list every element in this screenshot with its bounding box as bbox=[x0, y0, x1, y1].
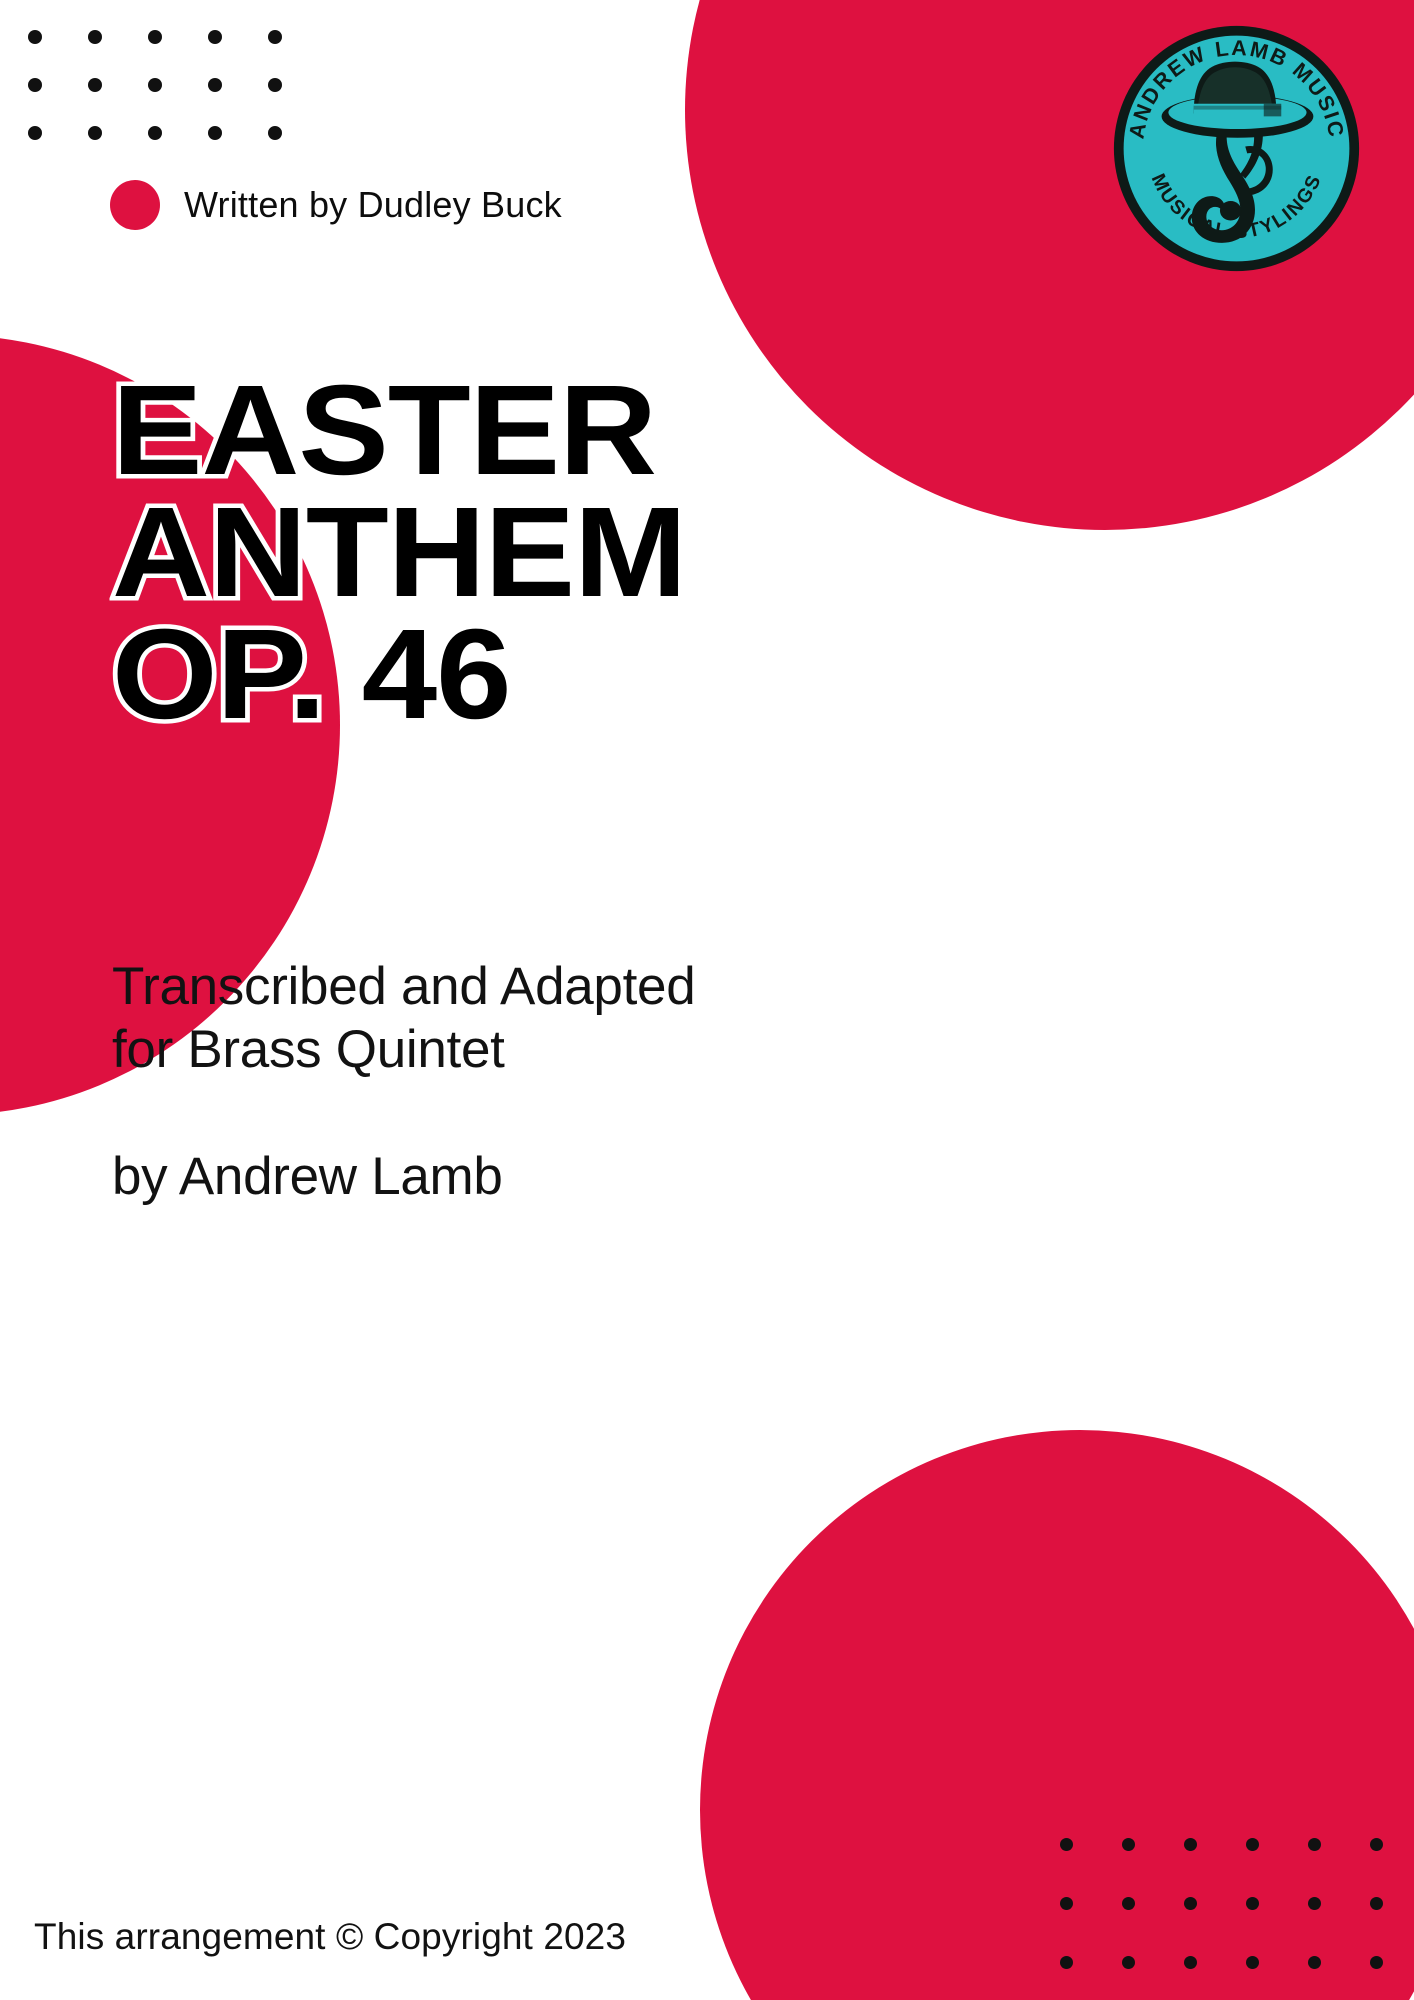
arranger-credit: by Andrew Lamb bbox=[112, 1145, 695, 1208]
decorative-dot bbox=[88, 78, 102, 92]
subtitle-block: Transcribed and Adapted for Brass Quinte… bbox=[112, 955, 695, 1208]
title-line-2: ANTHEM bbox=[112, 492, 686, 614]
page-title: EASTER ANTHEM OP. 46 bbox=[112, 370, 654, 736]
decorative-dot bbox=[1184, 1897, 1197, 1910]
decorative-dot bbox=[148, 78, 162, 92]
decorative-dot bbox=[1122, 1956, 1135, 1969]
decorative-dot bbox=[1246, 1897, 1259, 1910]
andrew-lamb-music-logo: ANDREW LAMB MUSIC MUSICAL STYLINGS bbox=[1110, 22, 1363, 275]
decorative-dot bbox=[208, 78, 222, 92]
decorative-dot bbox=[1308, 1838, 1321, 1851]
decorative-dot bbox=[28, 78, 42, 92]
decorative-dot bbox=[268, 78, 282, 92]
subtitle-line-2: for Brass Quintet bbox=[112, 1018, 695, 1081]
decorative-dot bbox=[88, 30, 102, 44]
decorative-dot bbox=[148, 30, 162, 44]
dot-grid-top-left bbox=[28, 30, 328, 174]
decorative-dot bbox=[268, 30, 282, 44]
decorative-dot bbox=[1184, 1956, 1197, 1969]
decorative-dot bbox=[1060, 1838, 1073, 1851]
decorative-dot bbox=[1060, 1956, 1073, 1969]
title-line-1: EASTER bbox=[112, 370, 686, 492]
decorative-dot bbox=[1246, 1956, 1259, 1969]
decorative-dot bbox=[1122, 1897, 1135, 1910]
decorative-dot bbox=[208, 126, 222, 140]
decorative-dot bbox=[1370, 1956, 1383, 1969]
decorative-dot bbox=[268, 126, 282, 140]
decorative-dot bbox=[1308, 1897, 1321, 1910]
dot-grid-bottom-right bbox=[1060, 1838, 1414, 2000]
copyright-notice: This arrangement © Copyright 2023 bbox=[34, 1916, 626, 1958]
decorative-dot bbox=[88, 126, 102, 140]
decorative-dot bbox=[1370, 1897, 1383, 1910]
decorative-dot bbox=[1370, 1838, 1383, 1851]
decorative-dot bbox=[28, 30, 42, 44]
decorative-dot bbox=[1060, 1897, 1073, 1910]
composer-credit: Written by Dudley Buck bbox=[184, 184, 562, 226]
red-dot-bullet-icon bbox=[110, 180, 160, 230]
decorative-dot bbox=[1246, 1838, 1259, 1851]
decorative-dot bbox=[1308, 1956, 1321, 1969]
written-by-row: Written by Dudley Buck bbox=[110, 180, 562, 230]
decorative-dot bbox=[1122, 1838, 1135, 1851]
decorative-dot bbox=[28, 126, 42, 140]
decorative-dot bbox=[1184, 1838, 1197, 1851]
subtitle-line-1: Transcribed and Adapted bbox=[112, 955, 695, 1018]
decorative-dot bbox=[208, 30, 222, 44]
decorative-dot bbox=[148, 126, 162, 140]
cover-page: ANDREW LAMB MUSIC MUSICAL STYLINGS bbox=[0, 0, 1414, 2000]
title-line-3: OP. 46 bbox=[112, 614, 686, 736]
